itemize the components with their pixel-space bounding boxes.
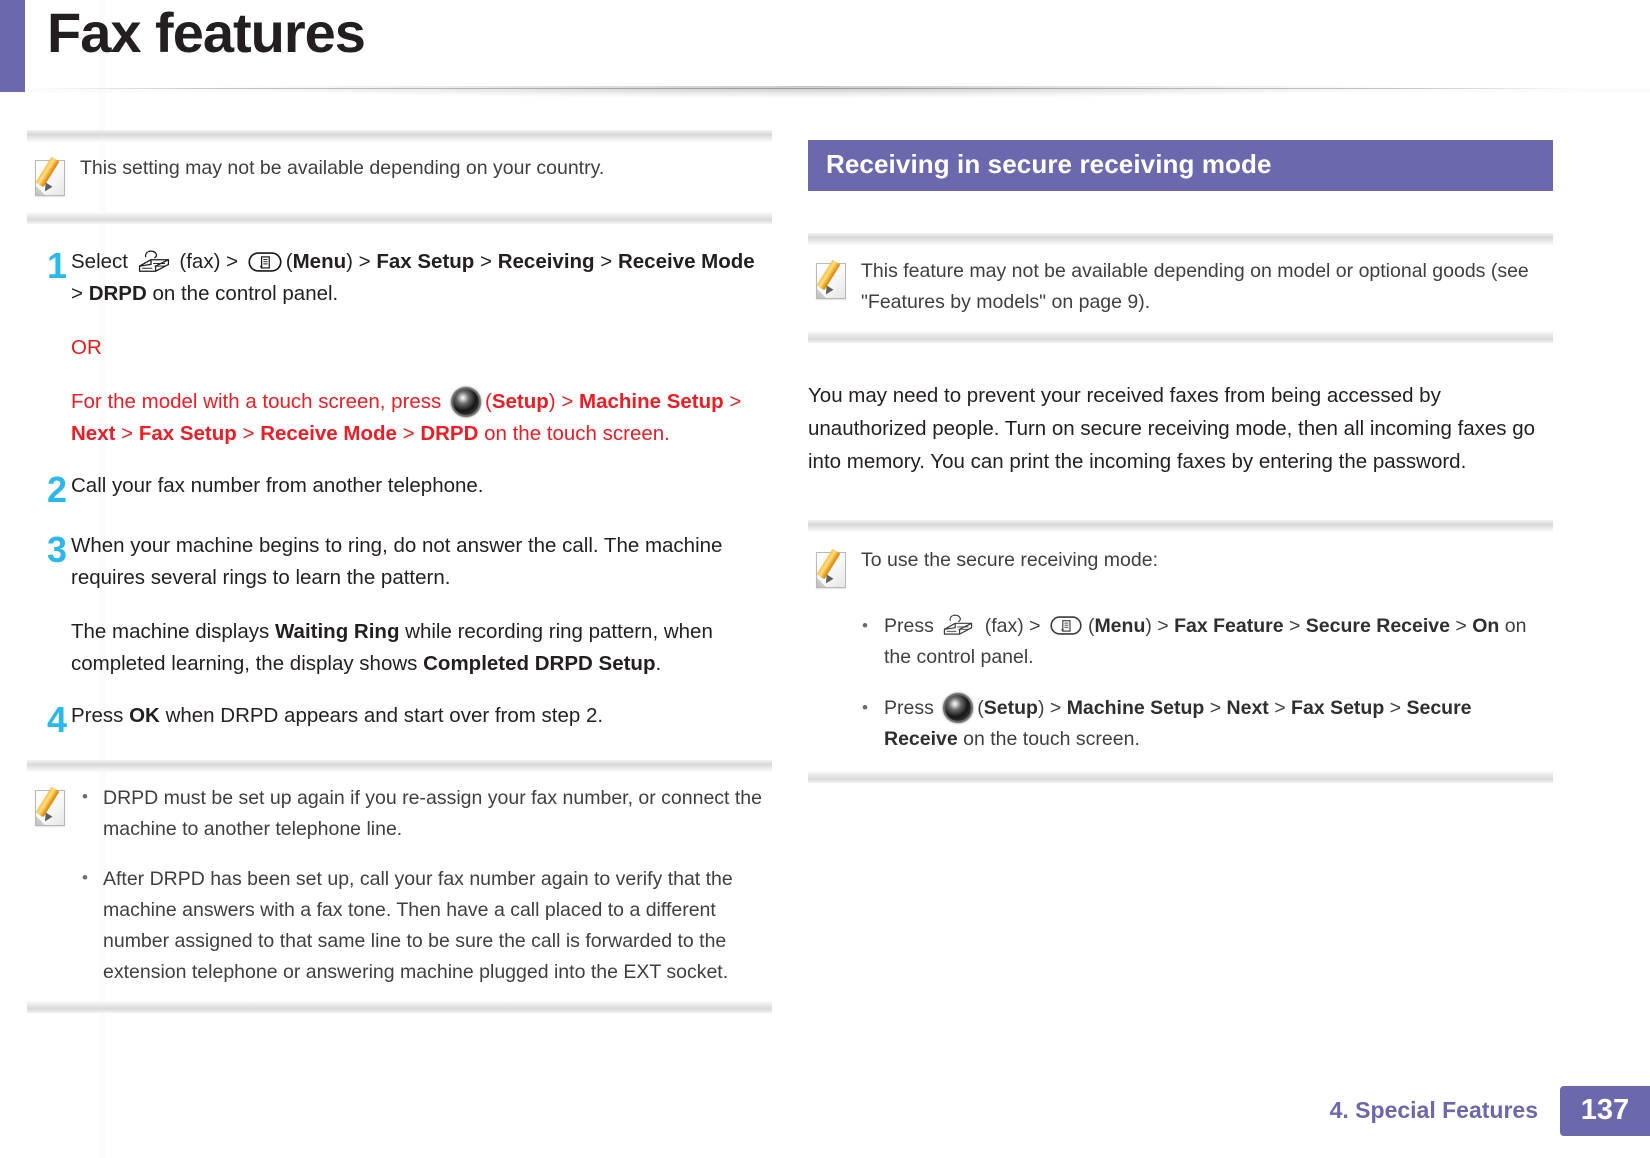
step-4-text: Press OK when DRPD appears and start ove… xyxy=(71,700,772,732)
touch-path-next: Next xyxy=(1227,697,1269,719)
bullet-2-tail: on the touch screen. xyxy=(963,728,1140,750)
step-content: Call your fax number from another teleph… xyxy=(71,470,772,502)
select-label: Select xyxy=(71,250,128,273)
setup-label: Setup xyxy=(984,697,1038,719)
note-bullet-list: Press xyxy=(856,611,1549,755)
note-pencil-paper-icon xyxy=(812,547,852,591)
step-3-text: When your machine begins to ring, do not… xyxy=(71,530,772,594)
step-content: Press OK when DRPD appears and start ove… xyxy=(71,700,772,732)
sep: > xyxy=(1157,615,1168,637)
numbered-steps: 1 Select xyxy=(27,246,772,740)
sep: > xyxy=(1289,615,1300,637)
setup-icon xyxy=(453,389,479,415)
step-1: 1 Select xyxy=(27,246,772,450)
touch-path-next: Next xyxy=(71,422,115,445)
ok-button-label: OK xyxy=(129,704,160,727)
step-4-tail: when DRPD appears and start over from st… xyxy=(166,704,604,727)
touch-path-drpd: DRPD xyxy=(420,422,478,445)
menu-path-receiving: Receiving xyxy=(498,250,595,273)
right-column: Receiving in secure receiving mode This … xyxy=(808,140,1553,783)
sep: > xyxy=(71,282,83,305)
menu-label: Menu xyxy=(1094,615,1145,637)
menu-path-on: On xyxy=(1472,615,1499,637)
chapter-accent-bar xyxy=(0,0,25,92)
sep: > xyxy=(1210,697,1221,719)
body-paragraph: You may need to prevent your received fa… xyxy=(808,379,1553,478)
step-3-second-paragraph: The machine displays Waiting Ring while … xyxy=(71,616,772,680)
sep: > xyxy=(600,250,612,273)
note-top-bar xyxy=(27,130,772,142)
display-completed-drpd-setup: Completed DRPD Setup xyxy=(423,652,655,675)
press-label: Press xyxy=(884,697,934,719)
touch-path-fax-setup: Fax Setup xyxy=(139,422,237,445)
sep: > xyxy=(403,422,415,445)
note-box-secure-receive-steps: To use the secure receiving mode: Press xyxy=(808,520,1553,783)
menu-path-receive-mode: Receive Mode xyxy=(618,250,755,273)
touch-path-machine-setup: Machine Setup xyxy=(1067,697,1205,719)
sep: > xyxy=(1274,697,1285,719)
note-pencil-paper-icon xyxy=(31,785,71,829)
sep: > xyxy=(1029,615,1040,637)
header-shadow xyxy=(30,86,1590,112)
touch-path-fax-setup: Fax Setup xyxy=(1291,697,1384,719)
note-text: This feature may not be available depend… xyxy=(852,256,1549,318)
step-2: 2 Call your fax number from another tele… xyxy=(27,470,772,510)
note-box-drpd-tips: DRPD must be set up again if you re-assi… xyxy=(27,760,772,1013)
touch-tail: on the touch screen. xyxy=(484,422,670,445)
sep: > xyxy=(561,390,573,413)
setup-paren-close: ) xyxy=(1038,697,1045,719)
list-item: DRPD must be set up again if you re-assi… xyxy=(75,783,768,845)
menu-path-drpd: DRPD xyxy=(89,282,147,305)
step-content: When your machine begins to ring, do not… xyxy=(71,530,772,680)
fax-paren-label: (fax) xyxy=(985,615,1024,637)
menu-path-secure-receive: Secure Receive xyxy=(1306,615,1450,637)
step-number: 1 xyxy=(27,246,71,286)
page-footer: 4. Special Features 137 xyxy=(1330,1086,1650,1136)
menu-path-fax-feature: Fax Feature xyxy=(1174,615,1283,637)
menu-paren-close: ) xyxy=(1145,615,1152,637)
step-1-tail: on the control panel. xyxy=(152,282,338,305)
step-number: 2 xyxy=(27,470,71,510)
note-pencil-paper-icon xyxy=(31,155,71,199)
setup-paren-close: ) xyxy=(549,390,556,413)
step-content: Select xyxy=(71,246,772,450)
sep: > xyxy=(1050,697,1061,719)
sep: > xyxy=(729,390,741,413)
sep: > xyxy=(121,422,133,445)
note-pencil-paper-icon xyxy=(812,258,852,302)
touch-pre: For the model with a touch screen, press xyxy=(71,390,441,413)
or-label: OR xyxy=(71,332,772,364)
fax-paren-label: (fax) xyxy=(179,250,220,273)
note-bullet-list: DRPD must be set up again if you re-assi… xyxy=(71,783,768,988)
note-bottom-bar xyxy=(808,331,1553,343)
left-column: This setting may not be available depend… xyxy=(27,130,772,1013)
menu-icon xyxy=(248,250,282,274)
p2-pre: The machine displays xyxy=(71,620,269,643)
step-1-touch-line: For the model with a touch screen, press… xyxy=(71,386,772,450)
sep: > xyxy=(359,250,371,273)
note-bottom-bar xyxy=(27,1001,772,1013)
sep: > xyxy=(1455,615,1466,637)
note-box-country: This setting may not be available depend… xyxy=(27,130,772,224)
note-top-bar xyxy=(27,760,772,772)
page-number: 137 xyxy=(1560,1086,1650,1136)
list-item-touch-screen: Press (Setup) > Machine Setup > Next > F… xyxy=(856,693,1549,755)
section-heading: Receiving in secure receiving mode xyxy=(808,140,1553,191)
header-divider xyxy=(25,88,1590,89)
list-item-control-panel: Press xyxy=(856,611,1549,673)
sep: > xyxy=(243,422,255,445)
step-3: 3 When your machine begins to ring, do n… xyxy=(27,530,772,680)
sep: > xyxy=(226,250,238,273)
step-1-line-1: Select xyxy=(71,246,772,310)
press-label: Press xyxy=(884,615,934,637)
press-label: Press xyxy=(71,704,123,727)
list-item: After DRPD has been set up, call your fa… xyxy=(75,864,768,988)
note-bottom-bar xyxy=(808,771,1553,783)
display-waiting-ring: Waiting Ring xyxy=(275,620,400,643)
note-top-bar xyxy=(808,520,1553,532)
menu-path-fax-setup: Fax Setup xyxy=(376,250,474,273)
chapter-label: 4. Special Features xyxy=(1330,1086,1560,1136)
p2-tail: . xyxy=(655,652,661,675)
step-number: 3 xyxy=(27,530,71,570)
note-intro-text: To use the secure receiving mode: xyxy=(852,545,1549,576)
note-box-feature-availability: This feature may not be available depend… xyxy=(808,233,1553,343)
setup-label: Setup xyxy=(492,390,549,413)
note-text: This setting may not be available depend… xyxy=(71,153,768,184)
step-2-text: Call your fax number from another teleph… xyxy=(71,470,772,502)
menu-paren-close: ) xyxy=(346,250,353,273)
fax-icon xyxy=(137,249,171,273)
step-4: 4 Press OK when DRPD appears and start o… xyxy=(27,700,772,740)
fax-icon xyxy=(942,613,976,637)
menu-paren-open: ( xyxy=(286,250,293,273)
sep: > xyxy=(480,250,492,273)
sep: > xyxy=(1390,697,1401,719)
step-number: 4 xyxy=(27,700,71,740)
touch-path-receive-mode: Receive Mode xyxy=(260,422,397,445)
note-top-bar xyxy=(808,233,1553,245)
setup-paren-open: ( xyxy=(485,390,492,413)
touch-path-machine-setup: Machine Setup xyxy=(579,390,724,413)
menu-label: Menu xyxy=(293,250,347,273)
setup-icon xyxy=(945,695,971,721)
menu-icon xyxy=(1050,614,1084,638)
page-title: Fax features xyxy=(47,0,365,68)
note-bottom-bar xyxy=(27,212,772,224)
